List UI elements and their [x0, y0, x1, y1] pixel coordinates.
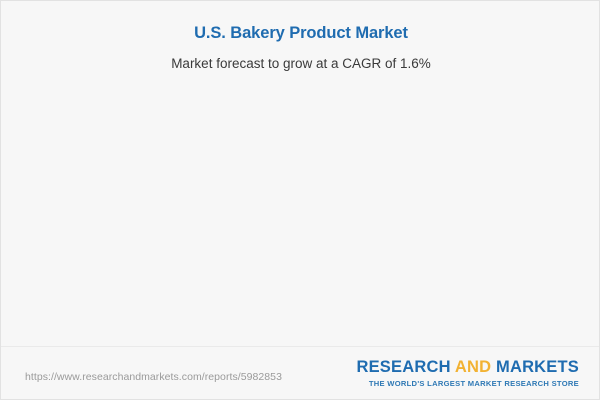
- brand-logo[interactable]: RESEARCH AND MARKETS THE WORLD'S LARGEST…: [356, 358, 579, 388]
- plot-area: USD 78.96 Billion 2023 USD 86.93 Billion: [1, 1, 600, 346]
- footer: https://www.researchandmarkets.com/repor…: [1, 346, 600, 400]
- logo-word-markets: MARKETS: [491, 358, 579, 376]
- source-url-link[interactable]: https://www.researchandmarkets.com/repor…: [25, 371, 282, 383]
- logo-word-research: RESEARCH: [356, 358, 454, 376]
- logo-wordmark: RESEARCH AND MARKETS: [356, 358, 579, 377]
- chart-card: U.S. Bakery Product Market Market foreca…: [0, 0, 600, 400]
- logo-tagline: THE WORLD'S LARGEST MARKET RESEARCH STOR…: [356, 379, 579, 388]
- logo-word-and: AND: [455, 358, 491, 376]
